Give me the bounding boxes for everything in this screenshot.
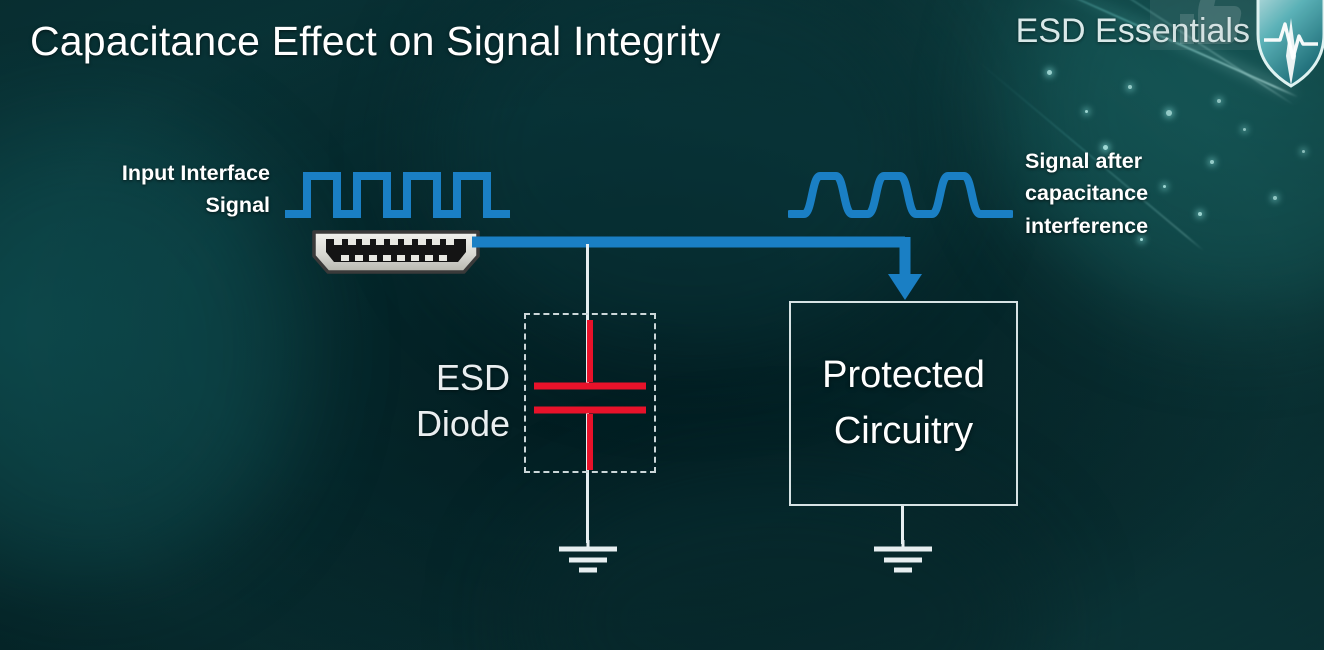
ground-symbol-left-icon bbox=[553, 540, 623, 574]
output-signal-label-line2: capacitance bbox=[1025, 177, 1235, 209]
esd-diode-label-line1: ESD bbox=[370, 355, 510, 401]
slide-canvas: Capacitance Effect on Signal Integrity E… bbox=[0, 0, 1324, 650]
capacitor-symbol-icon bbox=[524, 320, 656, 470]
input-signal-label-line1: Input Interface bbox=[30, 157, 270, 189]
vignette-overlay bbox=[0, 0, 1324, 650]
page-title: Capacitance Effect on Signal Integrity bbox=[30, 18, 721, 65]
particle bbox=[1273, 196, 1277, 200]
particle bbox=[1166, 110, 1172, 116]
particle bbox=[1243, 128, 1246, 131]
particle bbox=[1128, 85, 1132, 89]
output-signal-label: Signal after capacitance interference bbox=[1025, 145, 1235, 242]
input-waveform-icon bbox=[285, 168, 510, 220]
shield-pulse-logo-icon bbox=[1254, 0, 1324, 90]
esd-diode-label-line2: Diode bbox=[370, 401, 510, 447]
esd-diode-label: ESD Diode bbox=[370, 355, 510, 447]
particle bbox=[1217, 99, 1221, 103]
particle bbox=[1302, 150, 1305, 153]
input-signal-label-line2: Signal bbox=[30, 189, 270, 221]
brand-label: ESD Essentials bbox=[1016, 12, 1250, 51]
protected-circuitry-line1: Protected bbox=[822, 348, 985, 403]
output-signal-label-line3: interference bbox=[1025, 210, 1235, 242]
protected-circuitry-line2: Circuitry bbox=[834, 404, 973, 459]
output-waveform-icon bbox=[788, 168, 1013, 220]
protected-circuitry-box: Protected Circuitry bbox=[789, 301, 1018, 506]
wire-box-to-ground bbox=[901, 506, 904, 544]
particle bbox=[1047, 70, 1052, 75]
ground-symbol-right-icon bbox=[868, 540, 938, 574]
background-decor bbox=[0, 0, 1324, 650]
hdmi-connector-icon bbox=[308, 228, 484, 276]
input-signal-label: Input Interface Signal bbox=[30, 157, 270, 222]
particle bbox=[1085, 110, 1088, 113]
output-signal-label-line1: Signal after bbox=[1025, 145, 1235, 177]
signal-trace-arrow-icon bbox=[470, 232, 930, 304]
